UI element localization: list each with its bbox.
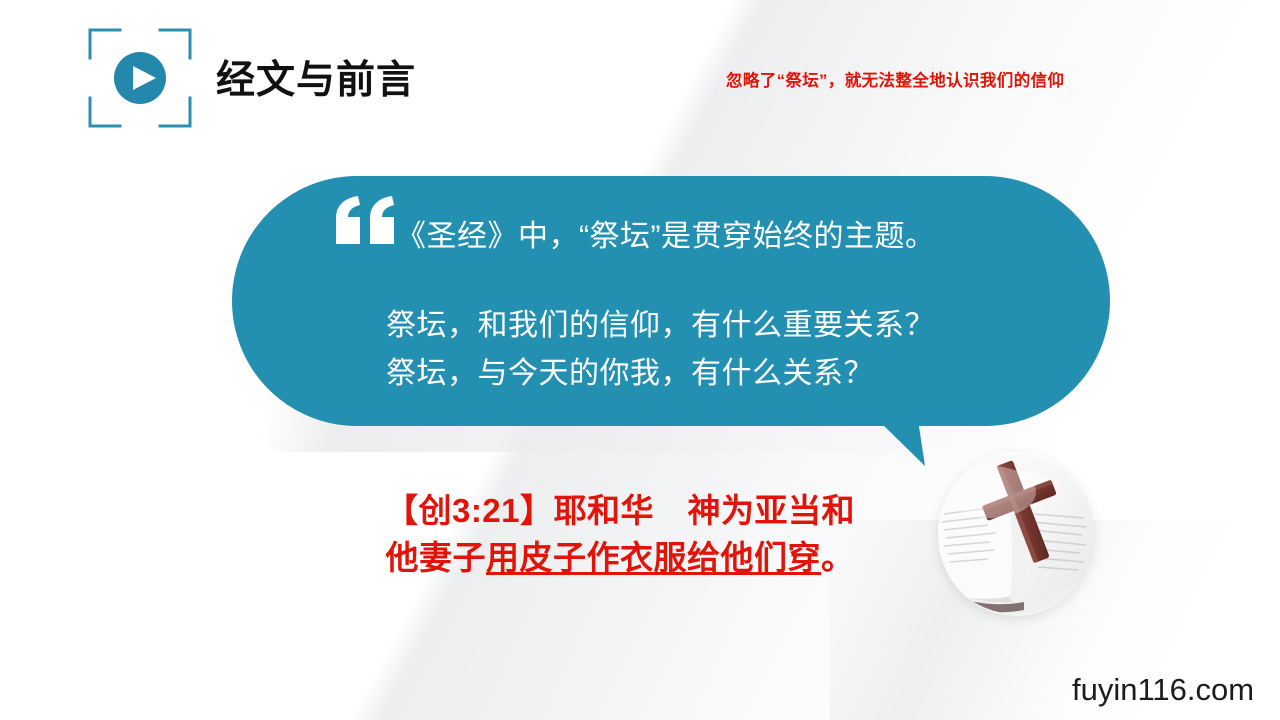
scripture-verse: 【创3:21】耶和华 神为亚当和 他妻子用皮子作衣服给他们穿。 [330, 488, 910, 582]
slide-canvas: 经文与前言 忽略了“祭坛”，就无法整全地认识我们的信仰 《圣经》中，“祭坛”是贯… [0, 0, 1280, 720]
play-in-frame-icon [88, 28, 192, 128]
quote-line-2: 祭坛，和我们的信仰，有什么重要关系？ [386, 307, 935, 345]
quote-line-3: 祭坛，与今天的你我，有什么关系？ [386, 355, 874, 393]
quote-line-1: 《圣经》中，“祭坛”是贯穿始终的主题。 [396, 218, 935, 256]
scripture-line1-text: 耶和华 神为亚当和 [554, 492, 856, 529]
scripture-line2-tail: 。 [821, 539, 855, 576]
quote-bubble-tail [878, 420, 928, 466]
page-title: 经文与前言 [216, 49, 416, 105]
cross-on-bible-photo [938, 452, 1094, 616]
scripture-reference: 【创3:21】 [385, 492, 554, 529]
site-watermark: fuyin116.com [1072, 672, 1254, 708]
header-red-note: 忽略了“祭坛”，就无法整全地认识我们的信仰 [726, 67, 1064, 91]
scripture-line2-lead: 他妻子 [386, 539, 487, 576]
quotation-mark-icon [332, 196, 402, 254]
scripture-line2-underlined: 用皮子作衣服给他们穿 [486, 539, 821, 576]
